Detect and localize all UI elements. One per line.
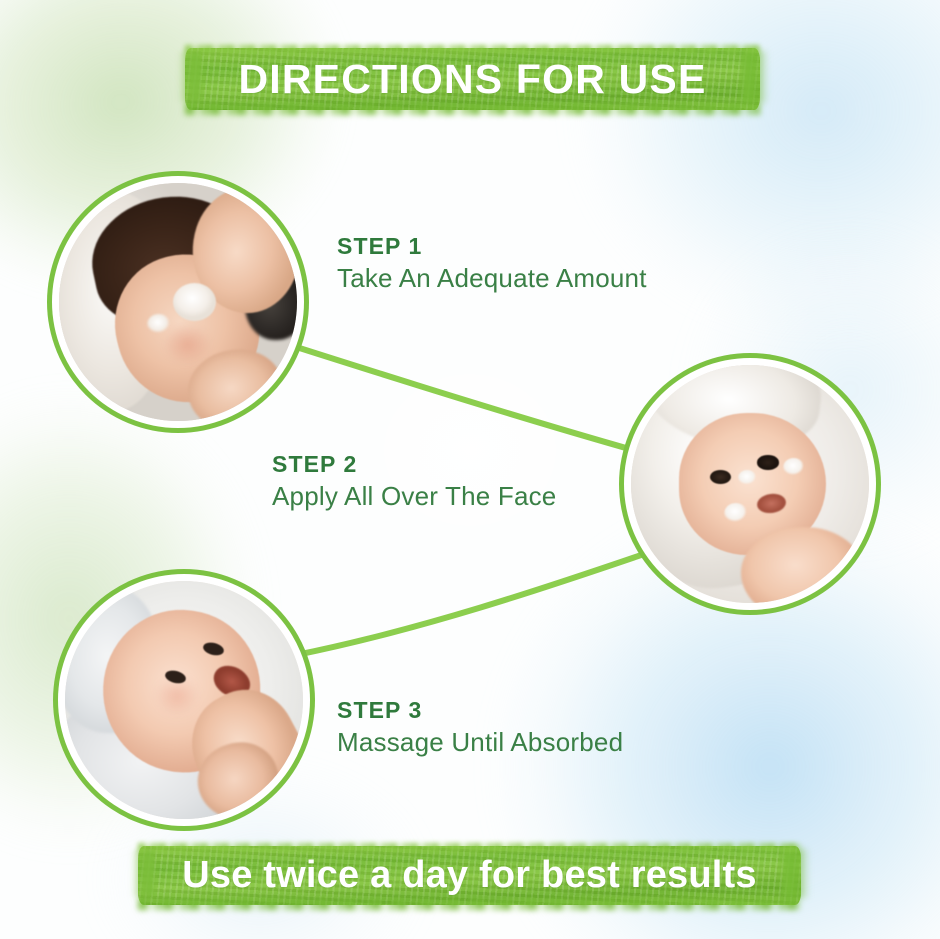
footer-brush-edge-top <box>138 843 801 852</box>
step-3-photo-image <box>65 581 303 819</box>
step-3-text: STEP 3 Massage Until Absorbed <box>337 698 623 758</box>
step-3-photo-circle <box>58 574 310 826</box>
step-1-text: STEP 1 Take An Adequate Amount <box>337 234 647 294</box>
step-2-photo-circle <box>624 358 876 610</box>
title-brush-edge-top <box>185 45 760 54</box>
step-1-description: Take An Adequate Amount <box>337 263 647 294</box>
page-title: DIRECTIONS FOR USE <box>238 56 706 103</box>
step-3-label: STEP 3 <box>337 698 623 723</box>
step-2-photo <box>631 365 869 603</box>
watercolor-highlight-center <box>300 300 640 600</box>
title-banner: DIRECTIONS FOR USE <box>185 48 760 110</box>
step-3-description: Massage Until Absorbed <box>337 727 623 758</box>
footer-text: Use twice a day for best results <box>182 854 757 897</box>
step-1-photo <box>59 183 297 421</box>
step-3-photo <box>65 581 303 819</box>
title-brush-edge-bottom <box>185 103 760 115</box>
step-2-label: STEP 2 <box>272 452 556 477</box>
step-1-photo-image <box>59 183 297 421</box>
directions-for-use-poster: DIRECTIONS FOR USE <box>0 0 940 939</box>
footer-banner: Use twice a day for best results <box>138 846 801 905</box>
step-2-description: Apply All Over The Face <box>272 481 556 512</box>
step-1-photo-circle <box>52 176 304 428</box>
footer-brush-edge-bottom <box>138 898 801 910</box>
connector-step1-to-step2 <box>290 345 640 452</box>
step-1-label: STEP 1 <box>337 234 647 259</box>
connector-step2-to-step3 <box>296 552 650 655</box>
step-2-photo-image <box>631 365 869 603</box>
step-2-text: STEP 2 Apply All Over The Face <box>272 452 556 512</box>
